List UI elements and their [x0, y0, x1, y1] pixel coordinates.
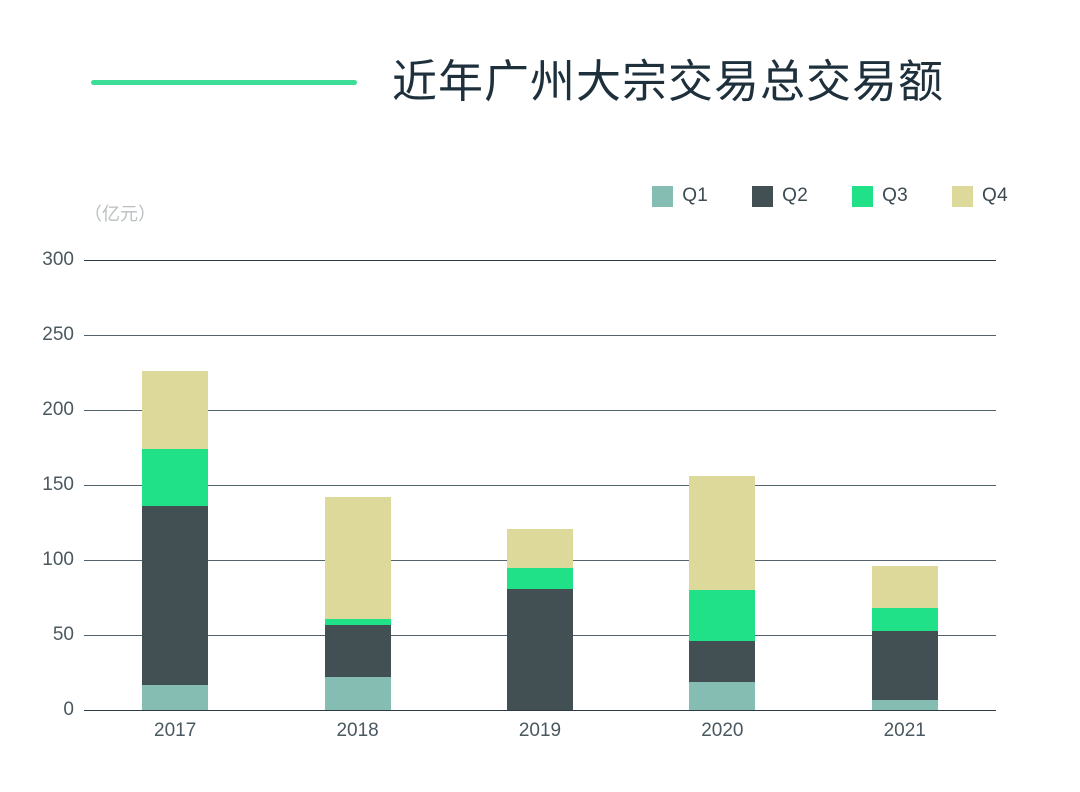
plot-area: 050100150200250300 20172018201920202021	[84, 260, 996, 710]
stacked-bar[interactable]	[325, 497, 391, 710]
y-axis-tick-label: 300	[42, 249, 74, 271]
chart-page: 近年广州大宗交易总交易额 Q1Q2Q3Q4 （亿元） 0501001502002…	[0, 0, 1080, 792]
x-axis-tick-label: 2021	[884, 720, 926, 742]
bar-segment-q1[interactable]	[689, 682, 755, 711]
legend-item-label: Q2	[782, 185, 808, 207]
bar-group-2019[interactable]: 2019	[477, 260, 603, 710]
y-axis-tick-label: 200	[42, 399, 74, 421]
chart-legend: Q1Q2Q3Q4	[652, 185, 1008, 207]
legend-item-q4[interactable]: Q4	[952, 185, 1008, 207]
legend-swatch-icon	[652, 186, 673, 207]
bar-segment-q1[interactable]	[142, 685, 208, 711]
bar-segment-q2[interactable]	[689, 641, 755, 682]
stacked-bar[interactable]	[689, 476, 755, 710]
y-axis-tick-label: 50	[53, 624, 74, 646]
y-axis-tick-label: 150	[42, 474, 74, 496]
bar-segment-q2[interactable]	[325, 625, 391, 678]
legend-item-label: Q1	[682, 185, 708, 207]
bar-segment-q3[interactable]	[507, 568, 573, 589]
bar-group-2018[interactable]: 2018	[295, 260, 421, 710]
x-axis-tick-label: 2020	[701, 720, 743, 742]
bar-segment-q4[interactable]	[507, 529, 573, 568]
stacked-bar[interactable]	[872, 566, 938, 710]
stacked-bar[interactable]	[142, 371, 208, 710]
y-axis-tick-label: 0	[63, 699, 74, 721]
bar-segment-q4[interactable]	[689, 476, 755, 590]
y-axis-tick-label: 100	[42, 549, 74, 571]
bar-group-2020[interactable]: 2020	[659, 260, 785, 710]
bar-segment-q3[interactable]	[689, 590, 755, 641]
page-title: 近年广州大宗交易总交易额	[392, 52, 944, 112]
bar-segment-q2[interactable]	[872, 631, 938, 700]
bar-segment-q3[interactable]	[872, 608, 938, 631]
x-axis-tick-label: 2017	[154, 720, 196, 742]
legend-item-q1[interactable]: Q1	[652, 185, 708, 207]
bar-segment-q2[interactable]	[507, 589, 573, 711]
bar-segment-q2[interactable]	[142, 506, 208, 685]
bar-segment-q4[interactable]	[872, 566, 938, 608]
bar-group-2021[interactable]: 2021	[842, 260, 968, 710]
legend-swatch-icon	[952, 186, 973, 207]
x-axis-tick-label: 2019	[519, 720, 561, 742]
title-accent-rule	[91, 80, 357, 85]
legend-item-q2[interactable]: Q2	[752, 185, 808, 207]
stacked-bar[interactable]	[507, 529, 573, 711]
chart-header: 近年广州大宗交易总交易额	[0, 0, 1080, 140]
legend-item-label: Q3	[882, 185, 908, 207]
bar-series-container: 20172018201920202021	[84, 260, 996, 710]
gridline: 0	[84, 710, 996, 711]
x-axis-tick-label: 2018	[336, 720, 378, 742]
bar-segment-q1[interactable]	[872, 700, 938, 711]
y-axis-tick-label: 250	[42, 324, 74, 346]
legend-item-label: Q4	[982, 185, 1008, 207]
bar-segment-q4[interactable]	[325, 497, 391, 619]
legend-item-q3[interactable]: Q3	[852, 185, 908, 207]
legend-swatch-icon	[752, 186, 773, 207]
bar-segment-q4[interactable]	[142, 371, 208, 449]
bar-segment-q3[interactable]	[142, 449, 208, 506]
legend-swatch-icon	[852, 186, 873, 207]
bar-segment-q1[interactable]	[325, 677, 391, 710]
y-axis-unit-label: （亿元）	[84, 200, 156, 226]
bar-group-2017[interactable]: 2017	[112, 260, 238, 710]
